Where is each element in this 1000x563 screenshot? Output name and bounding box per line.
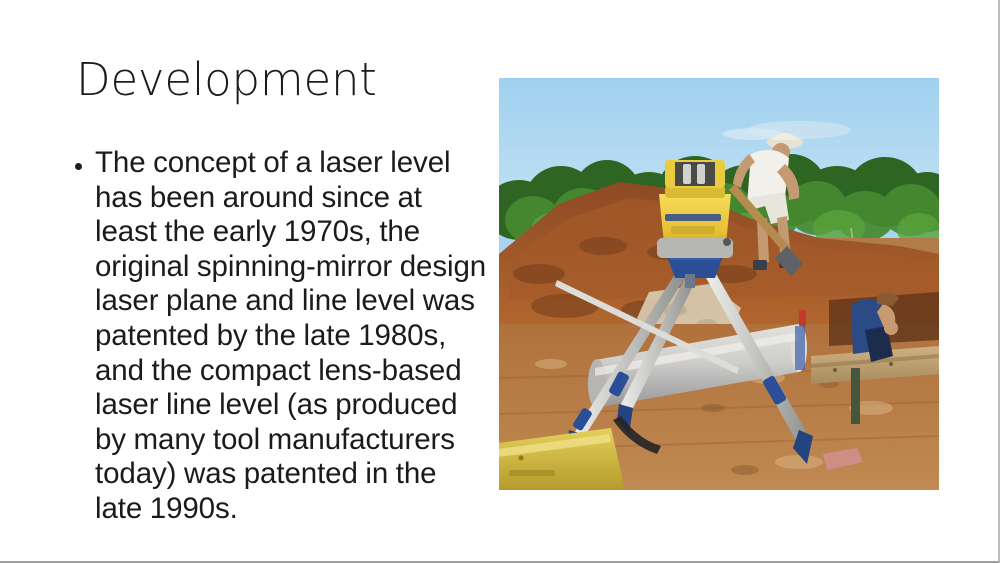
- photo-illustration: [499, 78, 939, 490]
- presentation-slide: Development The concept of a laser level…: [0, 0, 1000, 563]
- list-item: The concept of a laser level has been ar…: [70, 146, 488, 527]
- slide-title: Development: [76, 54, 496, 106]
- rotary-laser-level: [657, 160, 733, 258]
- slide-body: The concept of a laser level has been ar…: [70, 146, 488, 527]
- worker-bending-in-trench: [851, 292, 899, 362]
- construction-site-laser-level-photo: [499, 78, 939, 490]
- bullet-dot-icon: [75, 163, 82, 170]
- bullet-text: The concept of a laser level has been ar…: [95, 146, 486, 525]
